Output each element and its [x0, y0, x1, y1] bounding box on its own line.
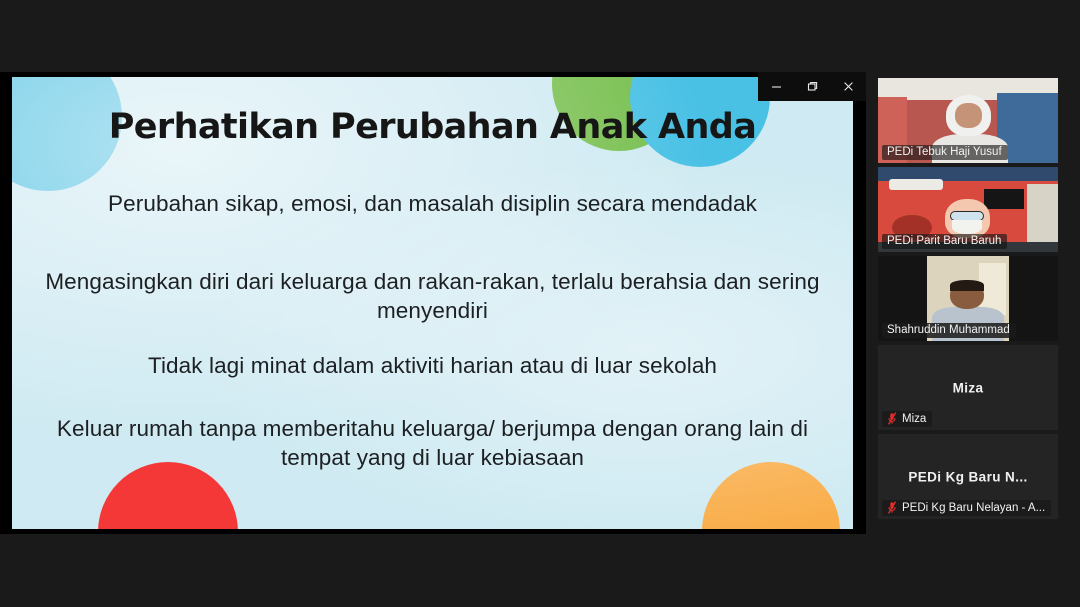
participant-name-badge: Miza — [882, 411, 932, 427]
participant-name: Miza — [902, 413, 926, 425]
participant-name: PEDi Kg Baru Nelayan - A... — [902, 502, 1045, 514]
close-button[interactable] — [831, 72, 865, 101]
restore-button[interactable] — [795, 72, 829, 101]
participant-tile[interactable]: PEDi Kg Baru N... PEDi Kg Baru Nelayan -… — [878, 434, 1058, 519]
participant-name-badge: PEDi Kg Baru Nelayan - A... — [882, 500, 1051, 516]
participant-tile[interactable]: Shahruddin Muhammad — [878, 256, 1058, 341]
minimize-button[interactable] — [759, 72, 793, 101]
presentation-slide: Perhatikan Perubahan Anak Anda Perubahan… — [12, 77, 853, 529]
participant-tile[interactable]: PEDi Tebuk Haji Yusuf — [878, 78, 1058, 163]
participant-name: PEDi Tebuk Haji Yusuf — [887, 146, 1002, 158]
participant-name: Shahruddin Muhammad — [887, 324, 1010, 336]
participant-name-badge: PEDi Parit Baru Baruh — [882, 234, 1007, 249]
slide-paragraph-3: Tidak lagi minat dalam aktiviti harian a… — [26, 351, 839, 380]
slide-title: Perhatikan Perubahan Anak Anda — [12, 107, 853, 147]
slide-paragraph-2: Mengasingkan diri dari keluarga dan raka… — [26, 267, 839, 325]
participant-tile[interactable]: Miza Miza — [878, 345, 1058, 430]
participant-tile-active-speaker[interactable]: PEDi Parit Baru Baruh — [878, 167, 1058, 252]
participant-avatar-label: PEDi Kg Baru N... — [878, 469, 1058, 484]
participant-name-badge: Shahruddin Muhammad — [882, 323, 1016, 338]
mic-muted-icon — [887, 501, 897, 514]
slide-paragraph-1: Perubahan sikap, emosi, dan masalah disi… — [26, 189, 839, 218]
slide-paragraph-4: Keluar rumah tanpa memberitahu keluarga/… — [26, 414, 839, 472]
mic-muted-icon — [887, 412, 897, 425]
participant-name-badge: PEDi Tebuk Haji Yusuf — [882, 145, 1008, 160]
participant-avatar-label: Miza — [878, 380, 1058, 395]
shared-screen-region[interactable]: Perhatikan Perubahan Anak Anda Perubahan… — [0, 72, 866, 534]
meeting-window: Perhatikan Perubahan Anak Anda Perubahan… — [0, 0, 1080, 607]
participant-name: PEDi Parit Baru Baruh — [887, 235, 1001, 247]
participant-filmstrip[interactable]: PEDi Tebuk Haji Yusuf PEDi Parit Baru Ba… — [866, 0, 1080, 607]
window-controls — [758, 72, 866, 101]
